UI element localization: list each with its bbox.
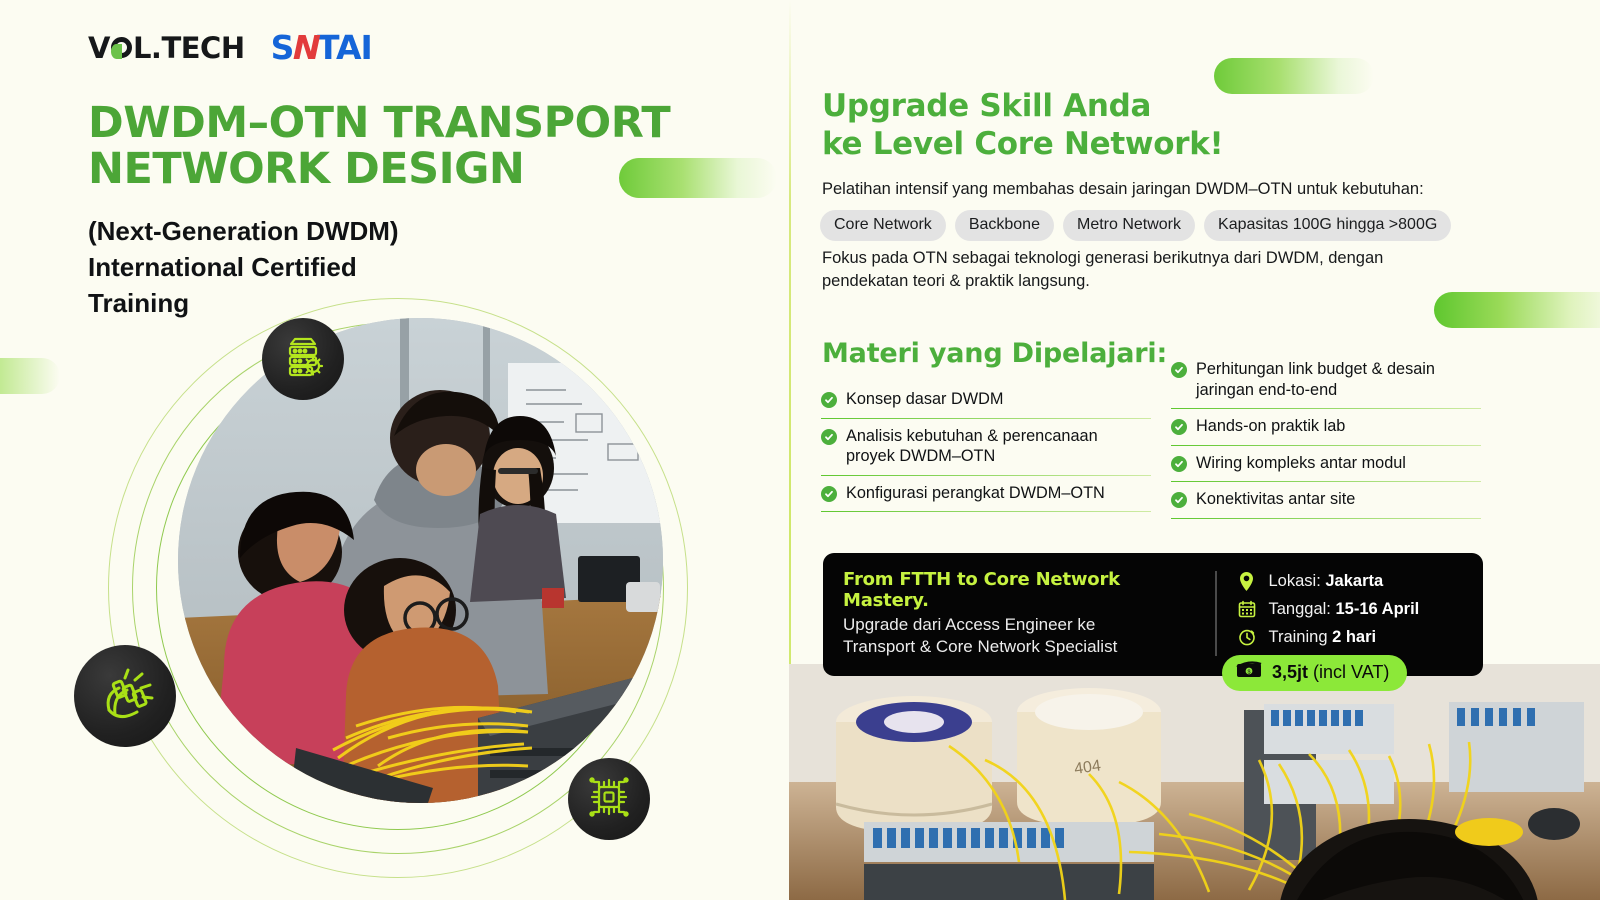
- chip-kapasitas: Kapasitas 100G hingga >800G: [1204, 210, 1451, 241]
- page-subtitle-line1: (Next-Generation DWDM): [88, 216, 399, 246]
- info-card-body-line1: Upgrade dari Access Engineer ke: [843, 615, 1095, 634]
- list-item-label: Konsep dasar DWDM: [846, 389, 1003, 410]
- sintai-logo-tai: TAI: [317, 28, 372, 67]
- detail-duration-label: Training: [1269, 628, 1328, 646]
- detail-location: Lokasi: Jakarta: [1237, 571, 1420, 591]
- hero-photo: [178, 318, 663, 803]
- detail-location-text: Lokasi: Jakarta: [1269, 572, 1384, 591]
- fiber-connector-icon: [95, 664, 155, 729]
- voltech-logo-post: L.TECH: [133, 31, 245, 65]
- detail-date-text: Tanggal: 15-16 April: [1269, 600, 1420, 619]
- voltech-logo-pre: V: [88, 31, 110, 65]
- check-circle-icon: [1171, 362, 1187, 378]
- logo-bar: VL.TECH SNTAI: [88, 28, 372, 67]
- page-title: DWDM–OTN TRANSPORT NETWORK DESIGN: [88, 100, 708, 193]
- svg-text:$: $: [1247, 670, 1250, 676]
- voltech-logo-o-icon: [111, 37, 132, 58]
- right-lead-text: Pelatihan intensif yang membahas desain …: [822, 178, 1562, 202]
- calendar-icon: [1237, 599, 1257, 619]
- list-item: Perhitungan link budget & desain jaringa…: [1171, 352, 1481, 408]
- detail-date-value: 15-16 April: [1335, 600, 1419, 618]
- right-headline-line1: Upgrade Skill Anda: [822, 88, 1151, 124]
- location-pin-icon: [1237, 571, 1257, 591]
- server-gear-icon: [279, 333, 327, 386]
- info-card-body-line2: Transport & Core Network Specialist: [843, 637, 1117, 656]
- page-title-line2: NETWORK DESIGN: [88, 144, 524, 194]
- chip-metro-network: Metro Network: [1063, 210, 1195, 241]
- list-item-label: Analisis kebutuhan & perencanaan proyek …: [846, 426, 1151, 467]
- materi-heading: Materi yang Dipelajari:: [822, 338, 1167, 369]
- list-item: Konektivitas antar site: [1171, 481, 1481, 519]
- price-amount: 3,5jt: [1272, 662, 1308, 682]
- info-card-text: From FTTH to Core Network Mastery. Upgra…: [843, 569, 1215, 658]
- detail-date-label: Tanggal:: [1269, 600, 1331, 618]
- chip-core-network: Core Network: [820, 210, 946, 241]
- stopwatch-icon: [1237, 627, 1257, 647]
- list-item-label: Konfigurasi perangkat DWDM–OTN: [846, 483, 1105, 504]
- page-title-line1: DWDM–OTN TRANSPORT: [88, 98, 670, 148]
- detail-date: Tanggal: 15-16 April: [1237, 599, 1420, 619]
- list-item: Analisis kebutuhan & perencanaan proyek …: [821, 418, 1151, 475]
- materi-column-right: Perhitungan link budget & desain jaringa…: [1171, 352, 1481, 519]
- detail-location-value: Jakarta: [1325, 572, 1383, 590]
- sintai-logo: SNTAI: [271, 28, 372, 67]
- right-note-line1: Fokus pada OTN sebagai teknologi generas…: [822, 249, 1383, 267]
- check-circle-icon: [1171, 492, 1187, 508]
- right-note-line2: pendekatan teori & praktik langsung.: [822, 272, 1090, 290]
- list-item-label: Hands-on praktik lab: [1196, 416, 1345, 437]
- price-suffix: (incl VAT): [1313, 662, 1389, 682]
- check-circle-icon: [821, 429, 837, 445]
- list-item: Konsep dasar DWDM: [821, 382, 1151, 418]
- price-text: 3,5jt (incl VAT): [1272, 662, 1389, 683]
- detail-duration-text: Training 2 hari: [1269, 628, 1377, 647]
- check-circle-icon: [821, 392, 837, 408]
- list-item-label: Wiring kompleks antar modul: [1196, 453, 1406, 474]
- list-item: Hands-on praktik lab: [1171, 408, 1481, 445]
- right-headline-line2: ke Level Core Network!: [822, 126, 1223, 162]
- server-gear-icon-badge: [262, 318, 344, 400]
- right-panel: 404: [789, 0, 1600, 900]
- voltech-logo: VL.TECH: [88, 31, 245, 65]
- page-subtitle-line3: Training: [88, 288, 189, 318]
- detail-duration-value: 2 hari: [1332, 628, 1376, 646]
- detail-location-label: Lokasi:: [1269, 572, 1321, 590]
- microchip-icon-badge: [568, 758, 650, 840]
- right-note-text: Fokus pada OTN sebagai teknologi generas…: [822, 247, 1462, 294]
- detail-duration: Training 2 hari: [1237, 627, 1420, 647]
- info-card-body: Upgrade dari Access Engineer ke Transpor…: [843, 614, 1201, 658]
- list-item-label: Perhitungan link budget & desain jaringa…: [1196, 359, 1481, 400]
- info-card-separator: [1215, 571, 1217, 656]
- chip-row: Core Network Backbone Metro Network Kapa…: [820, 210, 1451, 241]
- info-card-details: Lokasi: Jakarta Tanggal: 15-16 April: [1237, 569, 1420, 658]
- money-bill-icon: $: [1236, 661, 1262, 684]
- materi-column-left: Konsep dasar DWDM Analisis kebutuhan & p…: [821, 382, 1151, 512]
- right-headline: Upgrade Skill Anda ke Level Core Network…: [822, 88, 1542, 164]
- bottom-photo: 404: [789, 664, 1600, 900]
- info-card-headline: From FTTH to Core Network Mastery.: [843, 569, 1201, 611]
- check-circle-icon: [1171, 456, 1187, 472]
- chip-backbone: Backbone: [955, 210, 1054, 241]
- microchip-icon: [584, 772, 634, 827]
- left-panel: VL.TECH SNTAI DWDM–OTN TRANSPORT NETWORK…: [0, 0, 789, 900]
- list-item: Wiring kompleks antar modul: [1171, 445, 1481, 482]
- list-item: Konfigurasi perangkat DWDM–OTN: [821, 475, 1151, 513]
- check-circle-icon: [821, 486, 837, 502]
- check-circle-icon: [1171, 419, 1187, 435]
- fiber-connector-icon-badge: [74, 645, 176, 747]
- price-badge: $ 3,5jt (incl VAT): [1222, 655, 1407, 691]
- list-item-label: Konektivitas antar site: [1196, 489, 1355, 510]
- page-subtitle-line2: International Certified: [88, 252, 357, 282]
